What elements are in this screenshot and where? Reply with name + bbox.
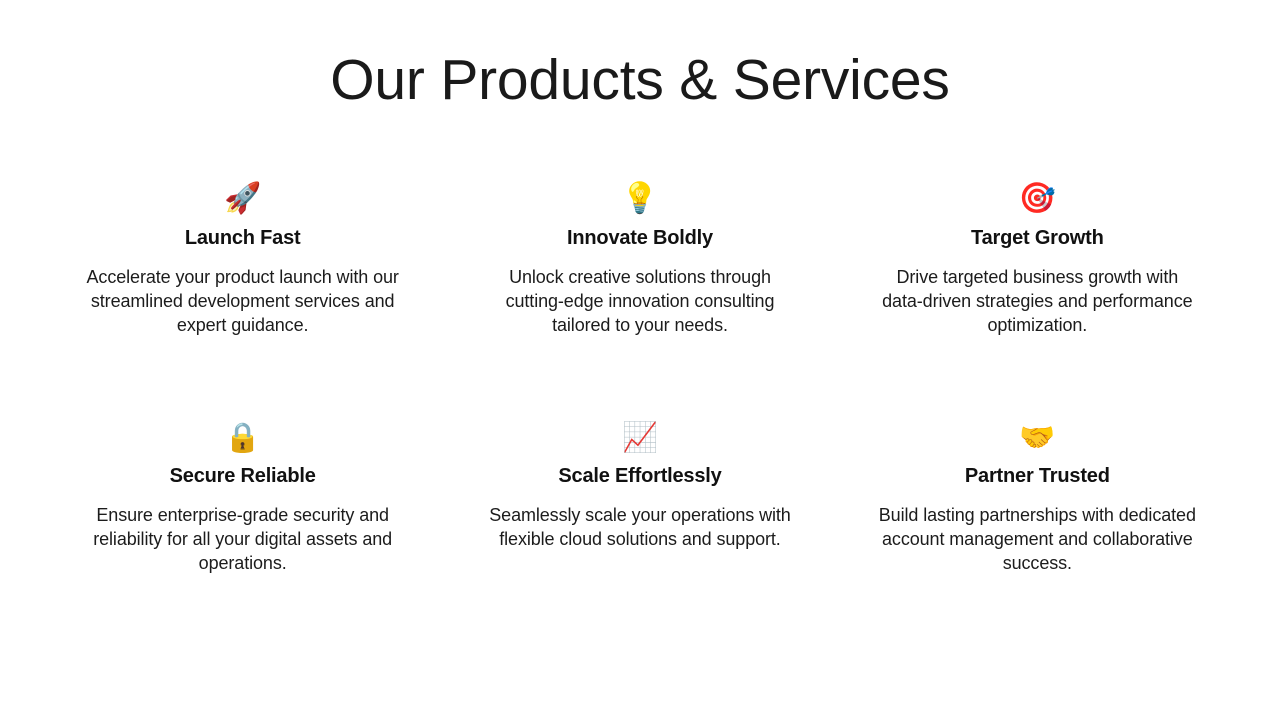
feature-card-body: Accelerate your product launch with our …: [83, 265, 403, 337]
feature-card-heading: Target Growth: [971, 226, 1104, 250]
feature-card-launch-fast[interactable]: 🚀 Launch Fast Accelerate your product la…: [44, 180, 441, 418]
feature-card-secure-reliable[interactable]: 🔒 Secure Reliable Ensure enterprise-grad…: [44, 418, 441, 656]
slide-canvas: Our Products & Services 🚀 Launch Fast Ac…: [0, 0, 1280, 720]
page-title: Our Products & Services: [0, 48, 1280, 114]
feature-card-heading: Partner Trusted: [965, 464, 1110, 488]
feature-card-heading: Scale Effortlessly: [558, 464, 721, 488]
feature-card-body: Build lasting partnerships with dedicate…: [877, 503, 1197, 575]
feature-card-target-growth[interactable]: 🎯 Target Growth Drive targeted business …: [839, 180, 1236, 418]
feature-card-heading: Innovate Boldly: [567, 226, 713, 250]
feature-card-body: Unlock creative solutions through cuttin…: [480, 265, 800, 337]
feature-card-scale-effortlessly[interactable]: 📈 Scale Effortlessly Seamlessly scale yo…: [441, 418, 838, 656]
feature-card-partner-trusted[interactable]: 🤝 Partner Trusted Build lasting partners…: [839, 418, 1236, 656]
feature-card-innovate-boldly[interactable]: 💡 Innovate Boldly Unlock creative soluti…: [441, 180, 838, 418]
feature-card-body: Ensure enterprise-grade security and rel…: [83, 503, 403, 575]
chart-increasing-icon: 📈: [622, 418, 658, 456]
handshake-icon: 🤝: [1019, 418, 1055, 456]
lightbulb-icon: 💡: [621, 180, 658, 218]
feature-card-grid: 🚀 Launch Fast Accelerate your product la…: [44, 180, 1236, 656]
feature-card-body: Drive targeted business growth with data…: [877, 265, 1197, 337]
rocket-icon: 🚀: [224, 180, 261, 218]
lock-icon: 🔒: [225, 418, 261, 456]
feature-card-heading: Secure Reliable: [170, 464, 316, 488]
target-icon: 🎯: [1019, 180, 1056, 218]
feature-card-heading: Launch Fast: [185, 226, 301, 250]
feature-card-body: Seamlessly scale your operations with fl…: [480, 503, 800, 551]
